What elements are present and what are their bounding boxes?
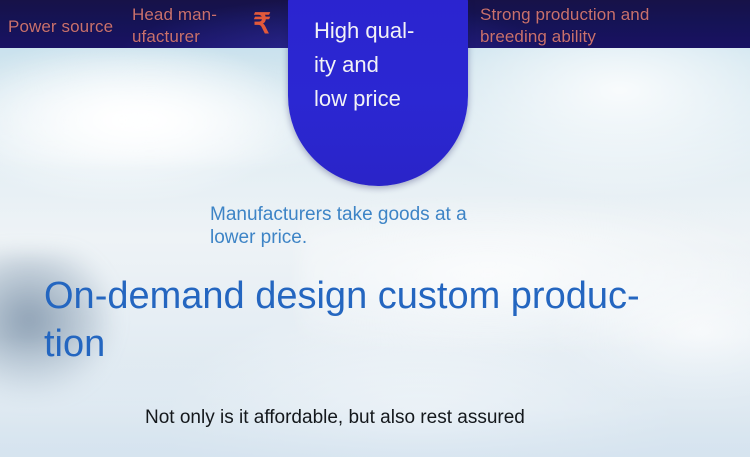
feature-label-strong-production: Strong production and breeding ability [480, 4, 716, 48]
feature-label-head-manufacturer: Head man- ufacturer [132, 4, 250, 48]
footer-copy-text: Not only is it affordable, but also rest… [145, 406, 615, 430]
headline-text: On-demand design custom produc- tion [44, 272, 709, 368]
high-quality-badge-label: High qual- ity and low price [314, 14, 444, 116]
promo-banner: Power source Head man- ufacturer ₹ Stron… [0, 0, 750, 457]
feature-label-power-source: Power source [8, 16, 113, 38]
rupee-icon: ₹ [248, 8, 276, 40]
sub-copy-text: Manufacturers take goods at a lower pric… [210, 203, 550, 249]
high-quality-badge: High qual- ity and low price [288, 0, 468, 186]
